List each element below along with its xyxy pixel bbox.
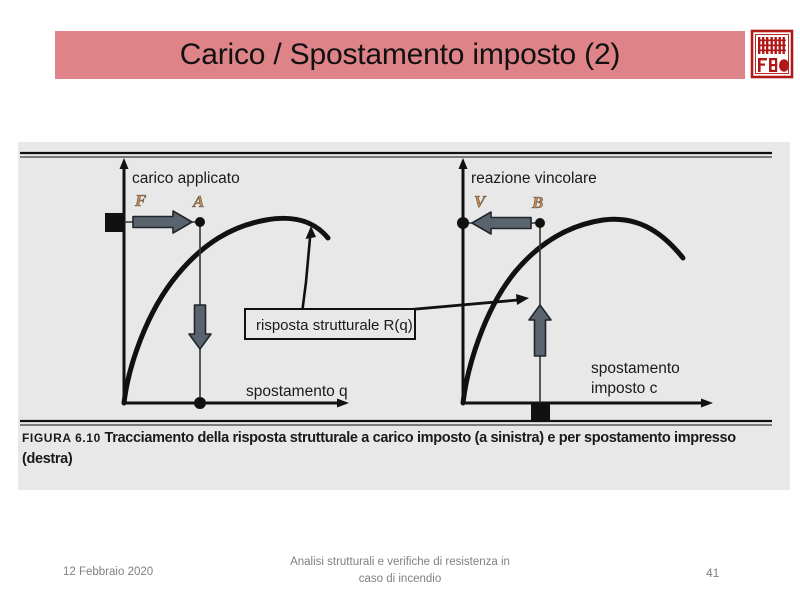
figure-caption-label: FIGURA 6.10 — [22, 431, 101, 445]
footer-page-number: 41 — [706, 566, 719, 580]
right-y-axis-label: reazione vincolare — [471, 170, 597, 187]
figure-top-rule — [20, 153, 772, 157]
figure-caption: FIGURA 6.10 Tracciamento della risposta … — [22, 428, 774, 470]
right-y-axis-arrowhead — [459, 158, 468, 169]
figure-bottom-rule — [20, 421, 772, 425]
left-y-axis-symbol: F — [134, 191, 147, 210]
right-y-axis-dot — [457, 217, 469, 229]
figure-caption-text: Tracciamento della risposta strutturale … — [22, 430, 736, 467]
page-title: Carico / Spostamento imposto (2) — [180, 38, 620, 72]
left-point-a-dot — [195, 217, 205, 227]
left-chart-group: carico applicato F A spostamento q — [105, 158, 349, 409]
left-point-label-a: A — [192, 192, 204, 211]
right-square-marker — [531, 403, 550, 422]
left-x-axis-dot — [194, 397, 206, 409]
left-load-arrow-right — [133, 211, 192, 233]
left-x-axis-label: spostamento q — [246, 383, 348, 400]
right-point-label-b: B — [531, 193, 543, 212]
right-chart-group: reazione vincolare V B spostamento impos… — [457, 158, 713, 422]
right-displacement-arrow-up — [529, 305, 551, 356]
right-x-axis-label-line1: spostamento — [591, 360, 680, 377]
right-x-axis-label-line2: imposto c — [591, 380, 658, 397]
callout-label: risposta strutturale R(q) — [256, 317, 413, 334]
footer-date: 12 Febbraio 2020 — [63, 566, 153, 578]
slide-title-bar: Carico / Spostamento imposto (2) — [55, 31, 745, 79]
right-point-b-dot — [535, 218, 545, 228]
left-displacement-arrow-down — [189, 305, 211, 349]
right-y-axis-symbol: V — [474, 192, 487, 211]
left-y-axis-label: carico applicato — [132, 170, 240, 187]
footer-subject: Analisi strutturali e verifiche di resis… — [250, 554, 550, 587]
callout-leader-right-arrowhead — [516, 294, 529, 305]
left-y-axis-arrowhead — [120, 158, 129, 169]
left-square-marker — [105, 213, 124, 232]
right-x-axis-arrowhead — [701, 399, 713, 408]
fbo-seal-logo-icon — [749, 28, 795, 80]
right-reaction-arrow-left — [472, 212, 531, 234]
footer-subject-line2: caso di incendio — [250, 571, 550, 588]
slide-footer: 12 Febbraio 2020 Analisi strutturali e v… — [0, 548, 800, 596]
footer-subject-line1: Analisi strutturali e verifiche di resis… — [250, 554, 550, 571]
